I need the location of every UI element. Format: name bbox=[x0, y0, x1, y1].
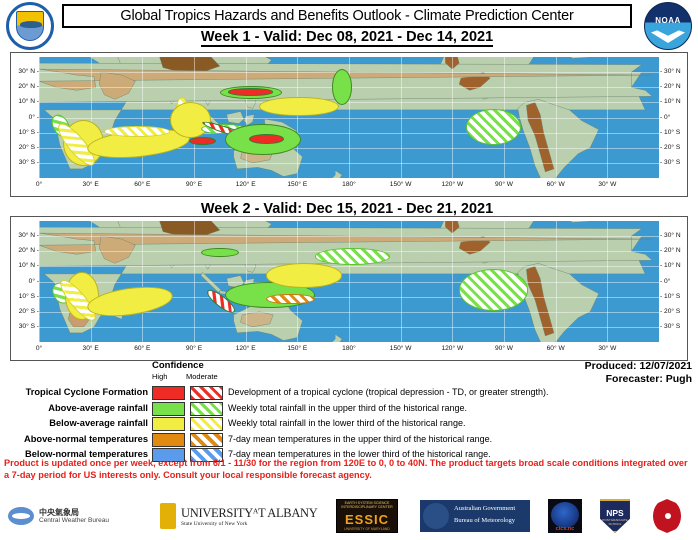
confidence-moderate-label: Moderate bbox=[186, 372, 218, 381]
y-tick-label: 30° N - bbox=[13, 232, 39, 239]
cics-badge-icon: cics.nc bbox=[548, 499, 582, 533]
hazard-area-tropical-cyclone-high bbox=[228, 88, 273, 95]
y-tick-label: 30° S - bbox=[13, 159, 39, 166]
x-tick-label: 150° E bbox=[284, 181, 310, 188]
legend-swatch-high bbox=[152, 386, 185, 400]
legend-swatch-high bbox=[152, 402, 185, 416]
y-tick-label: 30° S - bbox=[13, 323, 39, 330]
legend-swatch-moderate bbox=[190, 402, 223, 416]
page-title: Global Tropics Hazards and Benefits Outl… bbox=[62, 4, 632, 28]
x-tick-label: 60° W bbox=[543, 345, 569, 352]
partner-logos: 中央氣象局 Central Weather Bureau UNIVERSITYᴬ… bbox=[0, 492, 698, 540]
week2-title: Week 2 - Valid: Dec 15, 2021 - Dec 21, 2… bbox=[62, 201, 632, 217]
land-nz bbox=[325, 334, 342, 342]
gridline-horizontal bbox=[39, 163, 659, 164]
x-tick-label: 120° E bbox=[233, 345, 259, 352]
essic-badge-icon: EARTH SYSTEM SCIENCE INTERDISCIPLINARY C… bbox=[336, 499, 398, 533]
y-tick-label: 30° N - bbox=[13, 68, 39, 75]
gridline-horizontal bbox=[39, 118, 659, 119]
produced-date: Produced: 12/07/2021 bbox=[585, 360, 692, 372]
noaa-logo-text: NOAA bbox=[655, 16, 681, 25]
essic-acronym: ESSIC bbox=[337, 512, 397, 527]
cyclone-icon bbox=[650, 497, 684, 535]
legend-swatch-moderate bbox=[190, 386, 223, 400]
page-title-text: Global Tropics Hazards and Benefits Outl… bbox=[120, 8, 573, 24]
legend-row-description: Weekly total rainfall in the lower third… bbox=[228, 418, 465, 428]
y-tick-label: - 30° N bbox=[660, 68, 681, 75]
cics-globe-icon bbox=[551, 502, 579, 528]
gridline-horizontal bbox=[39, 282, 659, 283]
x-tick-label: 180° bbox=[336, 181, 362, 188]
x-tick-label: 150° W bbox=[388, 345, 414, 352]
gridline-horizontal bbox=[39, 266, 659, 267]
confidence-high-label: High bbox=[152, 372, 167, 381]
x-tick-label: 90° E bbox=[181, 181, 207, 188]
ua-subname: State University of New York bbox=[181, 521, 318, 527]
week2-map bbox=[39, 221, 659, 342]
x-tick-label: 30° E bbox=[78, 181, 104, 188]
y-tick-label: - 30° S bbox=[660, 159, 680, 166]
x-tick-label: 60° E bbox=[129, 181, 155, 188]
noaa-bird-icon bbox=[651, 29, 685, 43]
gridline-horizontal bbox=[39, 72, 659, 73]
x-tick-label: 30° W bbox=[594, 345, 620, 352]
confidence-heading: Confidence bbox=[152, 360, 204, 371]
x-tick-label: 120° W bbox=[439, 181, 465, 188]
x-tick-label: 0° bbox=[26, 345, 52, 352]
legend-row-label: Below-average rainfall bbox=[0, 418, 148, 428]
y-tick-label: 0° - bbox=[13, 278, 39, 285]
bom-crest-icon bbox=[423, 503, 449, 529]
y-tick-label: - 10° N bbox=[660, 98, 681, 105]
hazard-area-tropical-cyclone-high bbox=[249, 134, 283, 144]
legend-row-description: 7-day mean temperatures in the upper thi… bbox=[228, 434, 492, 444]
y-tick-label: - 30° N bbox=[660, 232, 681, 239]
essic-logo: EARTH SYSTEM SCIENCE INTERDISCIPLINARY C… bbox=[336, 496, 398, 536]
x-tick-label: 30° W bbox=[594, 181, 620, 188]
gridline-horizontal bbox=[39, 236, 659, 237]
x-tick-label: 90° E bbox=[181, 345, 207, 352]
hazard-area-below-average-rainfall-high bbox=[259, 97, 338, 116]
ua-torch-icon bbox=[160, 503, 176, 529]
legend-row-description: Development of a tropical cyclone (tropi… bbox=[228, 387, 548, 397]
hazard-area-below-average-rainfall-high bbox=[266, 263, 342, 287]
nps-subtitle: POSTGRADUATE SCHOOL bbox=[598, 518, 632, 526]
y-tick-label: 10° S - bbox=[13, 129, 39, 136]
forecaster-name: Forecaster: Pugh bbox=[606, 373, 692, 385]
legend-row: Above-normal temperatures7-day mean temp… bbox=[0, 433, 698, 448]
noaa-logo-icon: NOAA bbox=[644, 2, 692, 50]
cwb-chinese-name: 中央氣象局 bbox=[39, 508, 109, 517]
y-tick-label: - 30° S bbox=[660, 323, 680, 330]
legend-row: Tropical Cyclone FormationDevelopment of… bbox=[0, 386, 698, 401]
x-tick-label: 180° bbox=[336, 345, 362, 352]
y-tick-label: - 20° S bbox=[660, 144, 680, 151]
legend-row-label: Above-average rainfall bbox=[0, 403, 148, 413]
y-tick-label: - 20° S bbox=[660, 308, 680, 315]
page-header: Global Tropics Hazards and Benefits Outl… bbox=[0, 0, 698, 52]
nps-logo: NPS POSTGRADUATE SCHOOL bbox=[598, 496, 632, 536]
y-tick-label: - 10° S bbox=[660, 293, 680, 300]
cwb-english-name: Central Weather Bureau bbox=[39, 517, 109, 525]
ua-name: UNIVERSITYᴬT ALBANY bbox=[181, 506, 318, 521]
y-tick-label: 20° S - bbox=[13, 308, 39, 315]
week1-map-panel: 30° N -20° N -10° N -0° -10° S -20° S -3… bbox=[10, 52, 688, 197]
land-greenland bbox=[564, 221, 598, 223]
y-tick-label: 10° N - bbox=[13, 98, 39, 105]
legend-swatch-moderate bbox=[190, 417, 223, 431]
land-greenland bbox=[564, 57, 598, 59]
bom-bureau-text: Bureau of Meteorology bbox=[454, 517, 515, 524]
university-at-albany-logo: UNIVERSITYᴬT ALBANY State University of … bbox=[160, 496, 318, 536]
essic-top-text: EARTH SYSTEM SCIENCE INTERDISCIPLINARY C… bbox=[337, 501, 397, 510]
legend-swatch-high bbox=[152, 433, 185, 447]
legend-row: Below-average rainfallWeekly total rainf… bbox=[0, 417, 698, 432]
gridline-horizontal bbox=[39, 102, 659, 103]
x-tick-label: 0° bbox=[26, 181, 52, 188]
gthb-outlook-page: Global Tropics Hazards and Benefits Outl… bbox=[0, 0, 698, 540]
hazard-area-below-average-rainfall-high bbox=[170, 102, 211, 138]
land-nz bbox=[325, 170, 342, 178]
x-tick-label: 90° W bbox=[491, 345, 517, 352]
week1-title: Week 1 - Valid: Dec 08, 2021 - Dec 14, 2… bbox=[62, 29, 632, 45]
cwb-mark-icon bbox=[8, 507, 34, 525]
cics-name: cics.nc bbox=[548, 526, 582, 532]
nps-acronym: NPS bbox=[598, 508, 632, 518]
legend-swatch-high bbox=[152, 417, 185, 431]
y-tick-label: 20° N - bbox=[13, 83, 39, 90]
bom-government-text: Australian Government bbox=[454, 505, 515, 512]
x-tick-label: 60° E bbox=[129, 345, 155, 352]
x-tick-label: 60° W bbox=[543, 181, 569, 188]
essic-bottom-text: UNIVERSITY OF MARYLAND bbox=[337, 527, 397, 531]
week2-map-panel: 30° N -20° N -10° N -0° -10° S -20° S -3… bbox=[10, 216, 688, 361]
disclaimer-text: Product is updated once per week, except… bbox=[4, 458, 694, 481]
y-tick-label: 20° S - bbox=[13, 144, 39, 151]
x-tick-label: 120° E bbox=[233, 181, 259, 188]
hazard-area-above-average-rainfall-high bbox=[201, 248, 239, 258]
x-tick-label: 90° W bbox=[491, 181, 517, 188]
central-weather-bureau-logo: 中央氣象局 Central Weather Bureau bbox=[8, 496, 109, 536]
legend-row-label: Tropical Cyclone Formation bbox=[0, 387, 148, 397]
hazard-area-above-average-rainfall-moderate bbox=[315, 248, 391, 265]
nps-shield-icon: NPS POSTGRADUATE SCHOOL bbox=[598, 499, 632, 533]
cpc-nws-seal-icon bbox=[6, 2, 54, 50]
x-tick-label: 150° E bbox=[284, 345, 310, 352]
cics-nc-logo: cics.nc bbox=[548, 496, 582, 536]
legend-row-description: Weekly total rainfall in the upper third… bbox=[228, 403, 467, 413]
hazard-area-below-average-rainfall-moderate bbox=[104, 126, 169, 137]
legend-row: Above-average rainfallWeekly total rainf… bbox=[0, 402, 698, 417]
hazard-area-above-average-rainfall-moderate bbox=[459, 269, 528, 310]
y-tick-label: 0° - bbox=[13, 114, 39, 121]
bom-badge-icon: Australian Government Bureau of Meteorol… bbox=[420, 500, 530, 532]
y-tick-label: - 10° S bbox=[660, 129, 680, 136]
y-tick-label: - 20° N bbox=[660, 83, 681, 90]
y-tick-label: 10° S - bbox=[13, 293, 39, 300]
y-tick-label: - 0° bbox=[660, 114, 670, 121]
y-tick-label: - 20° N bbox=[660, 247, 681, 254]
y-tick-label: - 10° N bbox=[660, 262, 681, 269]
cyclone-logo bbox=[650, 496, 684, 536]
gridline-horizontal bbox=[39, 327, 659, 328]
week1-title-text: Week 1 - Valid: Dec 08, 2021 - Dec 14, 2… bbox=[201, 29, 493, 47]
x-tick-label: 30° E bbox=[78, 345, 104, 352]
y-tick-label: 20° N - bbox=[13, 247, 39, 254]
week1-map bbox=[39, 57, 659, 178]
legend-row-label: Above-normal temperatures bbox=[0, 434, 148, 444]
x-tick-label: 120° W bbox=[439, 345, 465, 352]
x-tick-label: 150° W bbox=[388, 181, 414, 188]
legend-swatch-moderate bbox=[190, 433, 223, 447]
y-tick-label: - 0° bbox=[660, 278, 670, 285]
australian-bom-logo: Australian Government Bureau of Meteorol… bbox=[420, 496, 530, 536]
y-tick-label: 10° N - bbox=[13, 262, 39, 269]
